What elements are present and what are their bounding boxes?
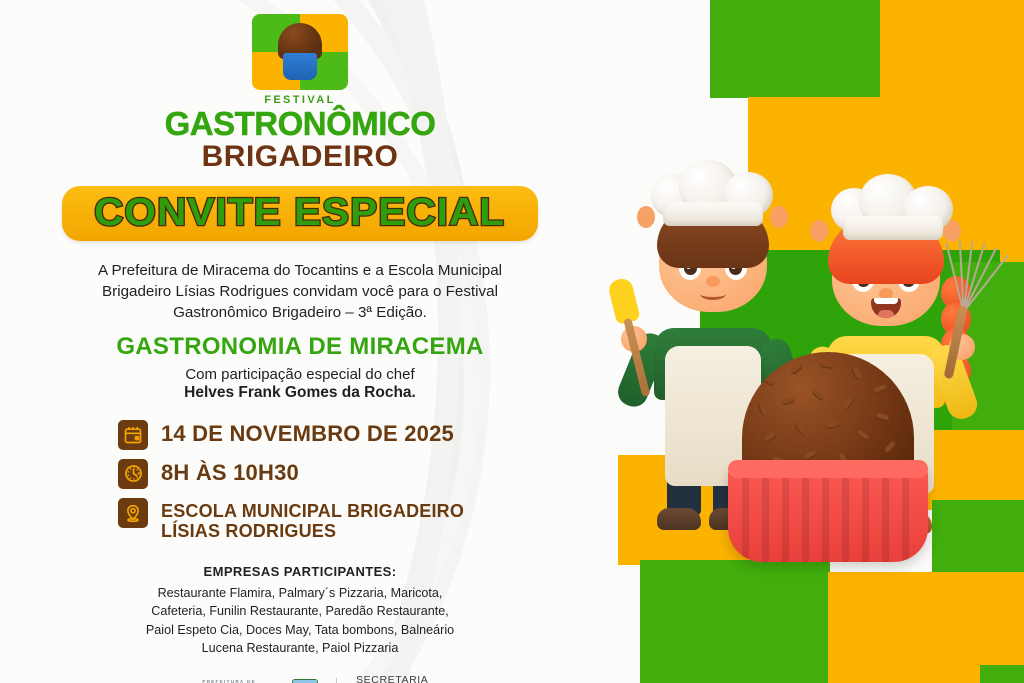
girl-chef-hat xyxy=(829,174,957,244)
invitation-content: FESTIVAL GASTRONÔMICO BRIGADEIRO CONVITE… xyxy=(0,0,600,683)
participating-companies: EMPRESAS PARTICIPANTES: Restaurante Flam… xyxy=(90,564,510,657)
company-line-3: Paiol Espeto Cia, Doces May, Tata bombon… xyxy=(90,621,510,639)
convite-especial-banner: CONVITE ESPECIAL xyxy=(62,186,537,241)
prefeitura-label: PREFEITURA DE xyxy=(202,679,256,683)
girl-ear-left xyxy=(810,220,828,242)
invitation-poster: FESTIVAL GASTRONÔMICO BRIGADEIRO CONVITE… xyxy=(0,0,1024,683)
clock-icon xyxy=(118,459,148,489)
brigadeiro-cupcake-icon xyxy=(252,14,348,90)
boy-chef-hat xyxy=(649,160,777,230)
event-time-label: 8H ÀS 10H30 xyxy=(161,459,299,484)
brigadeiro-cup-rim xyxy=(728,460,928,478)
event-date-label: 14 DE NOVEMBRO DE 2025 xyxy=(161,420,454,445)
festival-logo: FESTIVAL GASTRONÔMICO BRIGADEIRO xyxy=(165,14,436,172)
secretaria-educacao-label: SECRETARIA MUNICIPAL DE EDUCAÇÃO xyxy=(356,673,437,683)
decor-block-green-bottom-2 xyxy=(980,665,1024,683)
secretaria-line-1: SECRETARIA xyxy=(356,673,437,683)
companies-heading: EMPRESAS PARTICIPANTES: xyxy=(90,564,510,579)
footer-logos: PREFEITURA DE Miracema DO TOCANTINS SECR… xyxy=(163,673,437,683)
location-pin-icon xyxy=(118,498,148,528)
miracema-wordmark: PREFEITURA DE Miracema DO TOCANTINS xyxy=(192,680,275,683)
event-details: 14 DE NOVEMBRO DE 2025 8H ÀS 10H30 xyxy=(118,420,498,550)
intro-paragraph: A Prefeitura de Miracema do Tocantins e … xyxy=(65,261,535,324)
event-time-row: 8H ÀS 10H30 xyxy=(118,459,498,489)
company-line-1: Restaurante Flamira, Palmary´s Pizzaria,… xyxy=(90,584,510,602)
chef-intro-text: Com participação especial do chef xyxy=(185,366,414,383)
page-title: GASTRONOMIA DE MIRACEMA xyxy=(116,335,483,359)
chefs-illustration xyxy=(600,120,1024,620)
calendar-icon xyxy=(118,420,148,450)
coat-of-arms-icon xyxy=(288,676,322,683)
prefeitura-miracema-logo: PREFEITURA DE Miracema DO TOCANTINS xyxy=(163,680,275,683)
company-line-4: Lucena Restaurante, Paiol Pizzaria xyxy=(90,639,510,657)
footer-divider xyxy=(336,678,337,683)
event-location-label: ESCOLA MUNICIPAL BRIGADEIRO LÍSIAS RODRI… xyxy=(161,498,464,541)
event-location-line1: ESCOLA MUNICIPAL BRIGADEIRO xyxy=(161,501,464,521)
event-location-row: ESCOLA MUNICIPAL BRIGADEIRO LÍSIAS RODRI… xyxy=(118,498,498,541)
companies-list: Restaurante Flamira, Palmary´s Pizzaria,… xyxy=(90,584,510,657)
festival-name-line2: BRIGADEIRO xyxy=(202,142,399,172)
brigadeiro-dessert-illustration xyxy=(728,352,928,552)
banner-label: CONVITE ESPECIAL xyxy=(94,193,505,232)
brigadeiro-cup xyxy=(728,464,928,562)
company-line-2: Cafeteria, Funilin Restaurante, Paredão … xyxy=(90,602,510,620)
chef-name: Helves Frank Gomes da Rocha. xyxy=(184,384,416,402)
event-location-line2: LÍSIAS RODRIGUES xyxy=(161,521,464,541)
festival-name-line1: GASTRONÔMICO xyxy=(165,107,436,140)
event-date-row: 14 DE NOVEMBRO DE 2025 xyxy=(118,420,498,450)
boy-shoe-left xyxy=(657,508,701,530)
